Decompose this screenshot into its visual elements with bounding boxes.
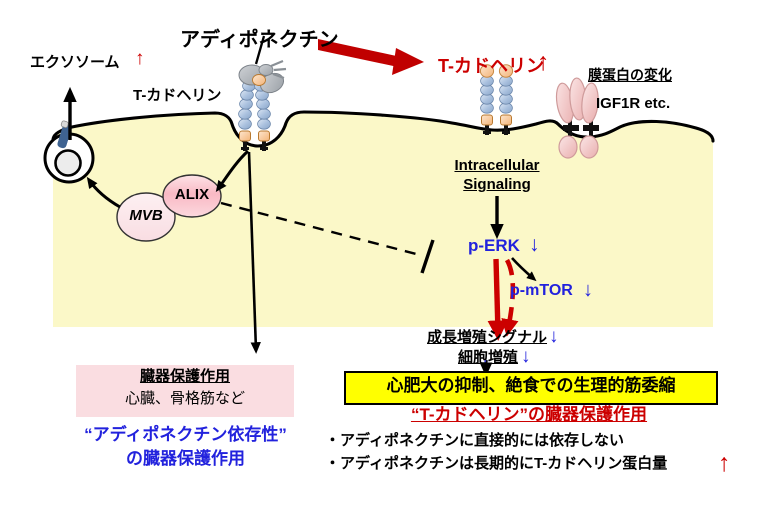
outcome-text: 心肥大の抑制、絶食での生理的筋委縮: [346, 377, 716, 395]
organ-protection-box: 臓器保護作用 心臓、骨格筋など: [76, 365, 294, 417]
label-adiponectin: アディポネクチン: [180, 30, 339, 51]
tcadherin-up-arrow: ↑: [537, 49, 550, 75]
label-tcadherin-right: T-カドヘリン: [438, 57, 544, 76]
blue-conclusion-line2: の臓器保護作用: [58, 450, 313, 468]
label-tcadherin-left: T-カドヘリン: [133, 88, 221, 104]
label-pmtor: p-mTOR: [510, 283, 573, 300]
exosome-up-arrow: ↑: [135, 49, 145, 69]
proliferation-down-arrow: ↓: [521, 347, 531, 367]
diagram-canvas: アディポネクチン エクソソーム ↑ T-カドヘリン T-カドヘリン ↑ 膜蛋白の…: [0, 0, 768, 518]
pmtor-down-arrow: ↓: [583, 280, 593, 301]
label-signaling: Signaling: [437, 177, 557, 193]
label-intracellular: Intracellular: [437, 158, 557, 174]
label-perk: p-ERK: [468, 237, 520, 255]
outcome-highlight-box: 心肥大の抑制、絶食での生理的筋委縮: [344, 371, 718, 405]
growth-down-arrow: ↓: [549, 327, 559, 347]
igf1r-receptor-icon: [554, 77, 600, 158]
perk-down-arrow: ↓: [529, 234, 540, 256]
bullet-2: ・アディポネクチンは長期的にT-カドヘリン蛋白量: [325, 456, 667, 472]
label-exosome: エクソソーム: [30, 55, 120, 71]
arrow-perk-to-growth-red: [496, 259, 498, 333]
label-growth-signal: 成長増殖シグナル: [427, 330, 547, 346]
label-mvb: MVB: [121, 208, 171, 224]
bullet-1: ・アディポネクチンに直接的には依存しない: [325, 433, 624, 449]
blue-conclusion-line1: “アディポネクチン依存性”: [58, 426, 313, 444]
red-conclusion: “T-カドヘリン”の臓器保護作用: [344, 406, 714, 424]
label-membrane-protein-change: 膜蛋白の変化: [588, 68, 672, 83]
organ-protection-heading: 臓器保護作用: [76, 369, 294, 385]
label-igf1r: IGF1R etc.: [596, 96, 670, 112]
label-alix: ALIX: [167, 187, 217, 203]
bullet-2-up-arrow: ↑: [718, 450, 731, 476]
organ-protection-subtext: 心臓、骨格筋など: [76, 391, 294, 407]
label-cell-proliferation: 細胞増殖: [458, 350, 518, 366]
